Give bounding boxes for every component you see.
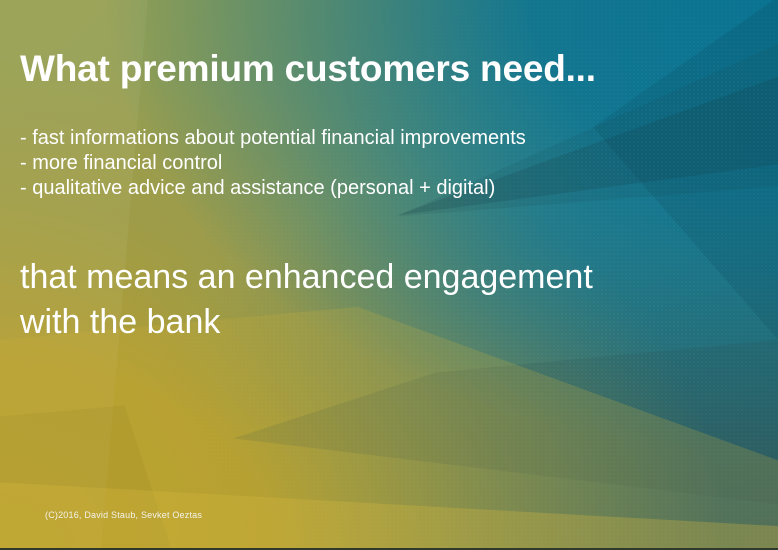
footer-credit: (C)2016, David Staub, Sevket Oeztas [45, 510, 202, 520]
slide-statement: that means an enhanced engagement with t… [20, 255, 720, 345]
bullet-item: - fast informations about potential fina… [20, 126, 526, 151]
slide-title: What premium customers need... [20, 50, 596, 89]
statement-line-2: with the bank [20, 300, 720, 345]
bullet-list: - fast informations about potential fina… [20, 126, 526, 201]
presentation-slide: What premium customers need... - fast in… [0, 0, 778, 550]
bullet-item: - more financial control [20, 151, 526, 176]
bullet-item: - qualitative advice and assistance (per… [20, 176, 526, 201]
statement-line-1: that means an enhanced engagement [20, 255, 720, 300]
slide-content: What premium customers need... - fast in… [0, 0, 778, 548]
